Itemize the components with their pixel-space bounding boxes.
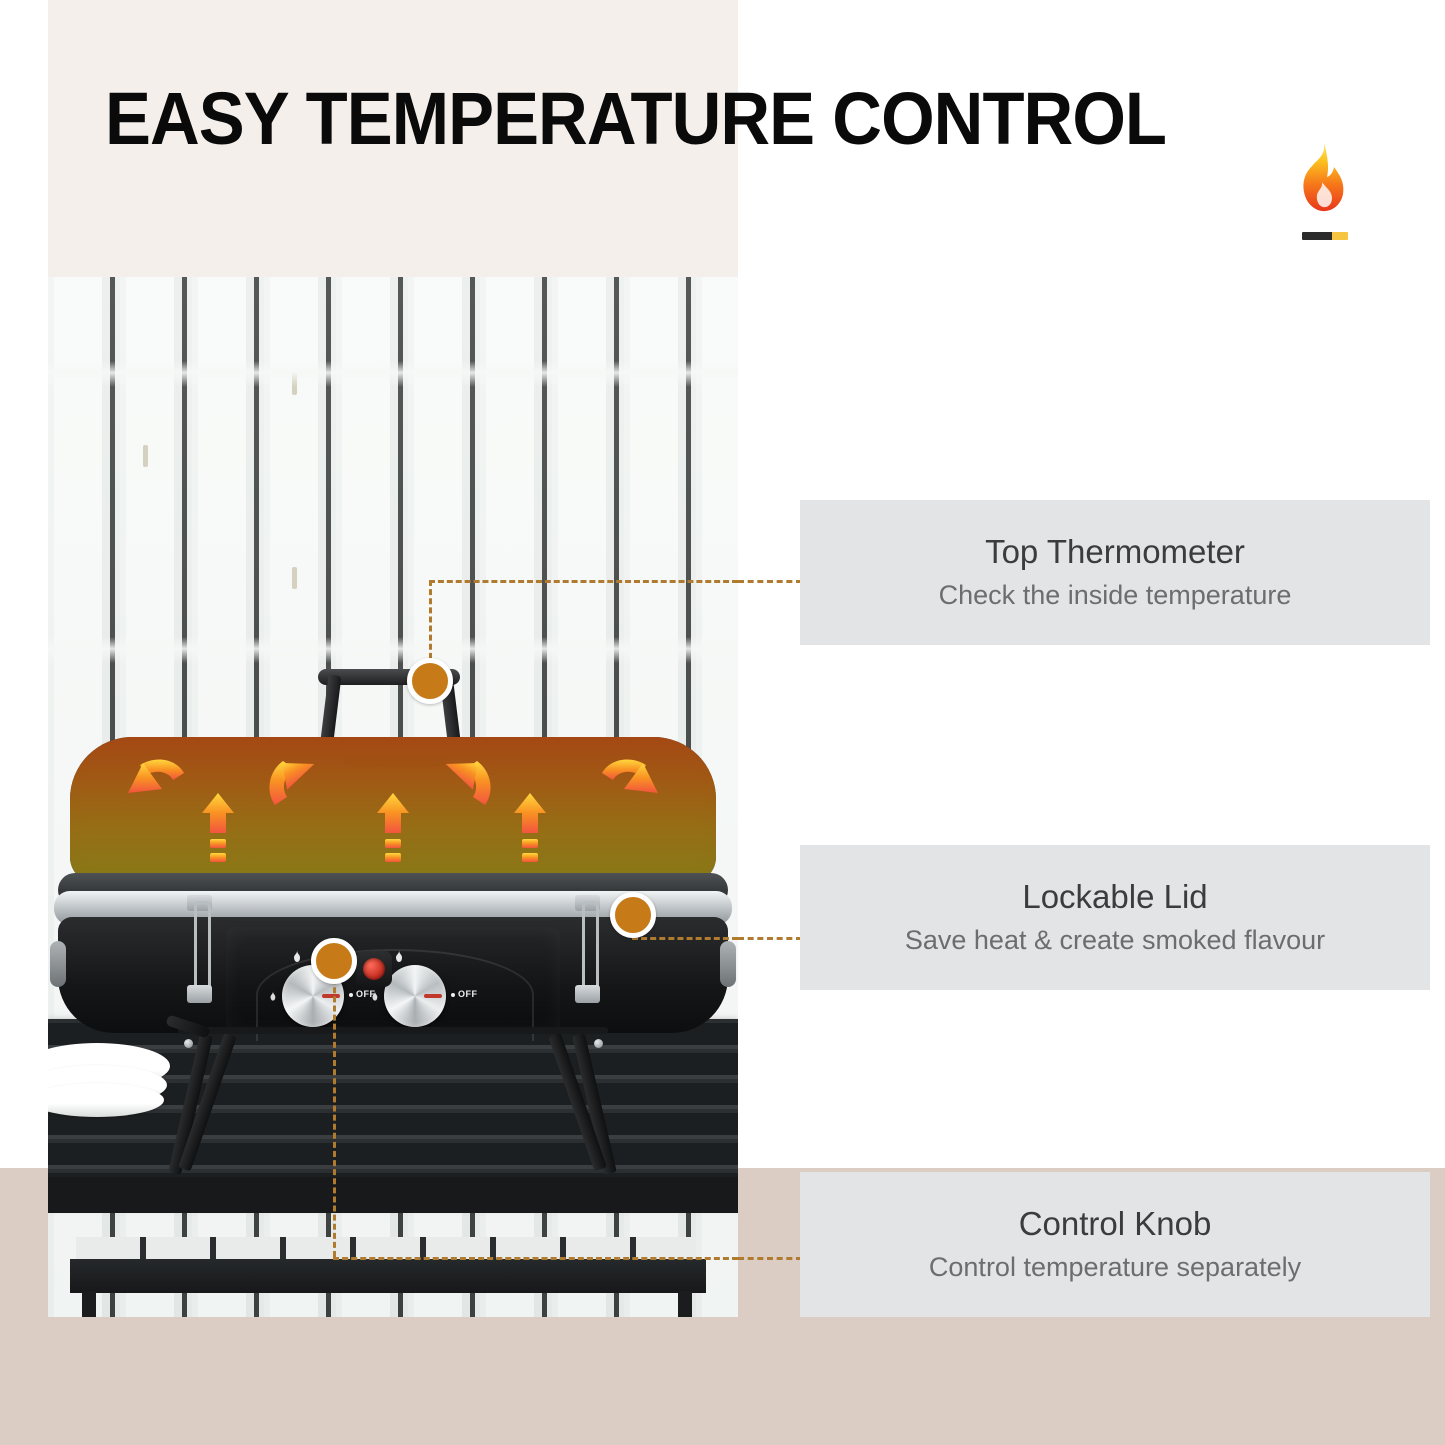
callout-top-thermometer[interactable]: Top Thermometer Check the inside tempera… (800, 500, 1430, 645)
latch-mount-bottom (187, 985, 212, 1003)
marker-control-knob[interactable] (311, 938, 357, 984)
page-title: EASY TEMPERATURE CONTROL (105, 76, 1166, 161)
side-handle-right (720, 941, 736, 987)
callout-line-lid-tail (738, 937, 802, 940)
deck-leg (82, 1291, 96, 1317)
flame-bar-dark-segment (1302, 232, 1332, 240)
callout-subtitle: Save heat & create smoked flavour (905, 925, 1325, 956)
ignition-button-inner (363, 958, 385, 980)
heat-arrow-rising (202, 793, 234, 862)
control-panel: OFF OFF (226, 927, 560, 1031)
fence-nail (143, 445, 148, 467)
ignition-button-icon[interactable] (356, 951, 392, 987)
latch-mount-bottom (575, 985, 600, 1003)
leg-bolt (594, 1039, 603, 1048)
side-handle-left (50, 941, 66, 987)
fence-highlight (48, 361, 738, 387)
leg-brace (178, 1027, 608, 1034)
callout-title: Lockable Lid (1022, 879, 1207, 915)
lid-latch-right[interactable] (582, 901, 593, 995)
callout-line-thermometer-horizontal (429, 580, 738, 583)
knob-off-label-right: OFF (458, 989, 478, 999)
flame-symbol-icon (394, 949, 403, 961)
callout-title: Top Thermometer (985, 534, 1245, 570)
heat-arrow-curved (128, 759, 184, 793)
fence-nail (292, 567, 297, 589)
lid-latch-left[interactable] (194, 901, 205, 995)
heat-arrow-curved (602, 759, 658, 793)
infographic-canvas: EASY TEMPERATURE CONTROL (0, 0, 1445, 1445)
callout-subtitle: Control temperature separately (929, 1252, 1301, 1283)
callout-line-knob-horizontal (333, 1257, 738, 1260)
callout-line-knob-tail (738, 1257, 802, 1260)
callout-title: Control Knob (1019, 1206, 1212, 1242)
off-marker-dot-right (451, 993, 455, 997)
callout-line-thermometer-vertical (429, 580, 432, 668)
callout-line-knob-vertical (333, 960, 336, 1257)
deck-lower-shelf (76, 1237, 696, 1259)
heat-arrow-rising (514, 793, 546, 862)
callout-subtitle: Check the inside temperature (939, 580, 1292, 611)
marker-lockable-lid[interactable] (610, 892, 656, 938)
knob-off-label-left: OFF (356, 989, 376, 999)
leg-bolt (184, 1039, 193, 1048)
callout-control-knob[interactable]: Control Knob Control temperature separat… (800, 1172, 1430, 1317)
knob-pointer (322, 994, 340, 998)
deck-lower-rail (70, 1259, 706, 1293)
off-marker-dot-left (349, 993, 353, 997)
flame-symbol-icon (269, 990, 276, 1000)
burner-knob-right[interactable] (384, 965, 446, 1027)
heat-arrow-curved (441, 750, 490, 805)
heat-flow-arrows (70, 737, 716, 883)
flame-level-bar (1302, 232, 1348, 240)
callout-line-lid-horizontal (632, 937, 738, 940)
deck-table-edge (48, 1177, 738, 1213)
heat-arrow-rising (377, 793, 409, 862)
flame-symbol-icon (292, 949, 301, 961)
flame-bar-gold-segment (1332, 232, 1348, 240)
knob-pointer (424, 994, 442, 998)
deck-leg (678, 1291, 692, 1317)
marker-top-thermometer[interactable] (407, 658, 453, 704)
product-photo: OFF OFF (48, 277, 738, 1317)
callout-line-thermometer-tail (738, 580, 802, 583)
callout-lockable-lid[interactable]: Lockable Lid Save heat & create smoked f… (800, 845, 1430, 990)
heat-arrow-curved (269, 750, 318, 805)
